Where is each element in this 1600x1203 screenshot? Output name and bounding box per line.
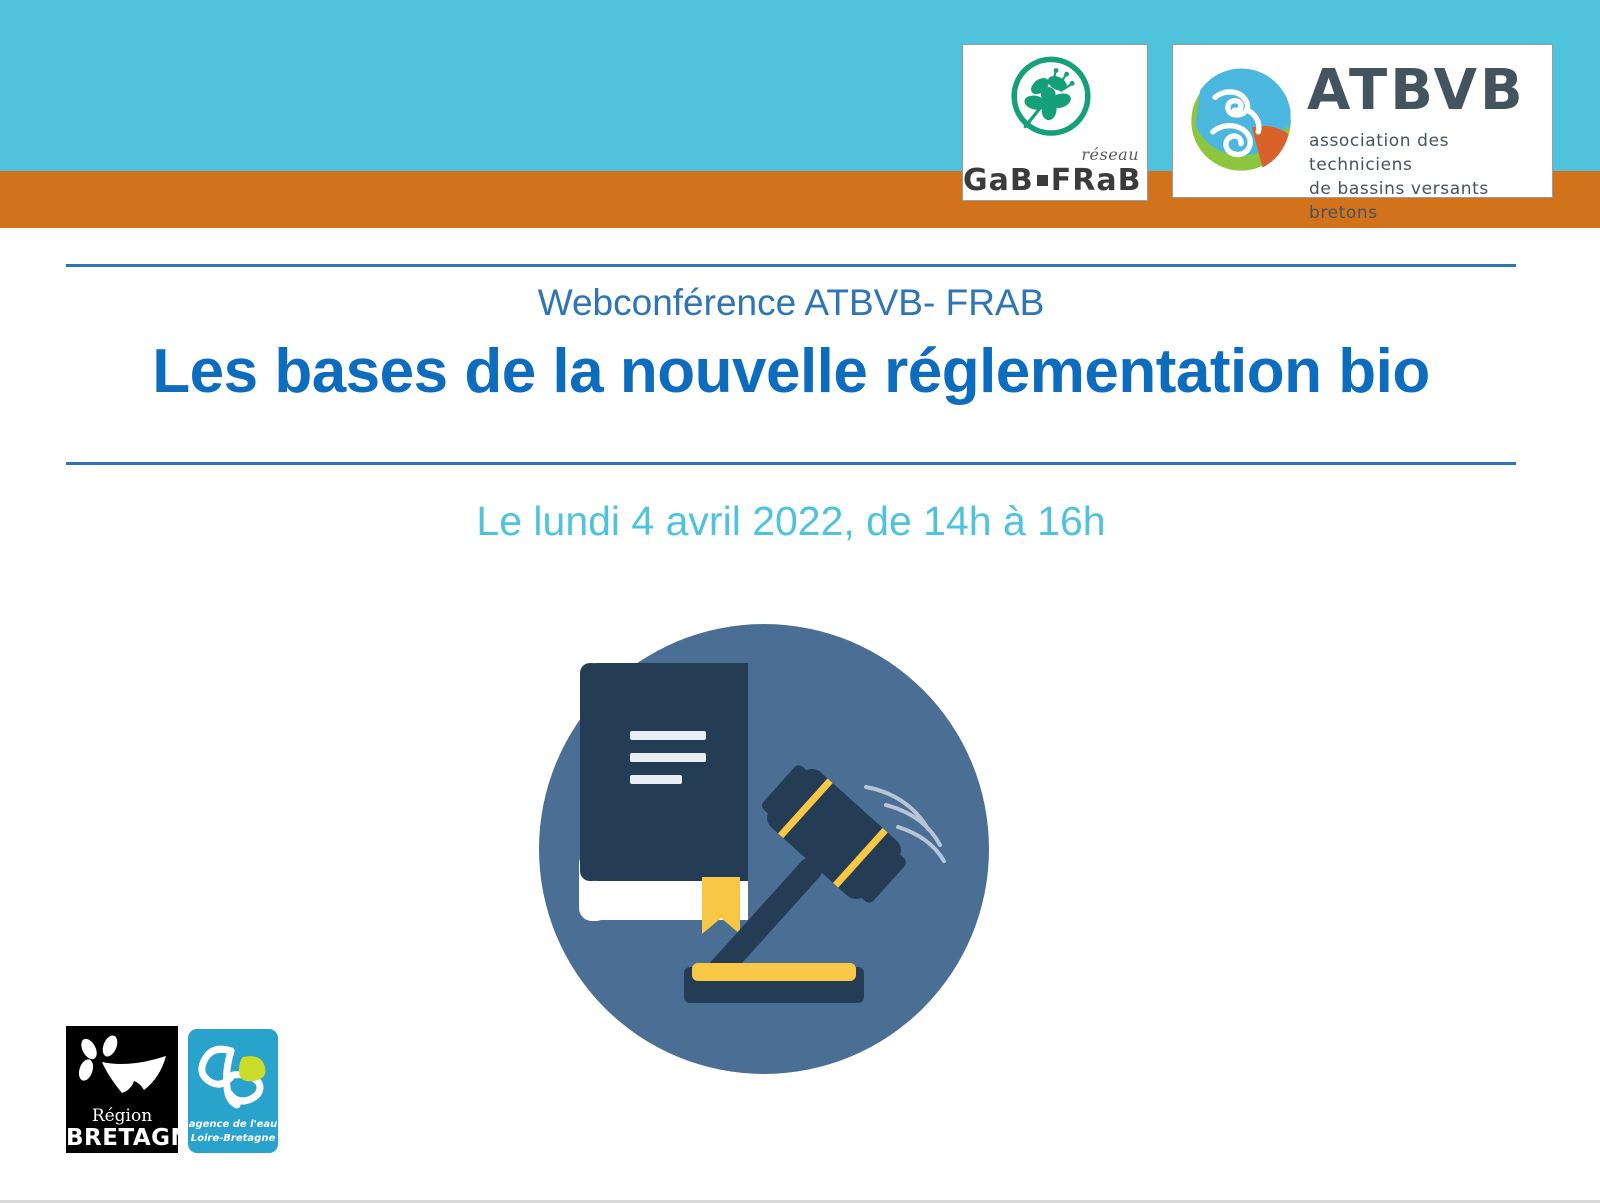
gab-frab-square-separator-icon [1037,175,1048,186]
agence-de-leau-line1: agence de l'eau [188,1118,278,1132]
region-bretagne-line1: Région [66,1106,178,1126]
gab-frab-logo-inner: réseau GaBFRaB [963,45,1147,200]
law-book-icon [579,663,748,934]
law-book-and-gavel-illustration [534,619,994,1079]
atbvb-tagline-line2: de bassins versants bretons [1309,177,1552,225]
gab-frab-script-word: réseau [963,145,1139,164]
title-bottom-rule [66,462,1516,465]
slide-subtitle: Webconférence ATBVB- FRAB [66,282,1516,324]
region-bretagne-logo: Région BRETAGNE [66,1026,178,1153]
agence-de-leau-logo: agence de l'eau Loire-Bretagne [188,1029,278,1153]
atbvb-wordmark: ATBVB [1307,61,1526,121]
atbvb-tagline: association des techniciens de bassins v… [1309,129,1552,225]
region-bretagne-line2: BRETAGNE [66,1125,178,1151]
title-top-rule [66,264,1516,267]
event-datetime: Le lundi 4 avril 2022, de 14h à 16h [66,498,1516,545]
presentation-slide: réseau GaBFRaB ATBVB association des tec… [0,0,1600,1203]
agence-de-leau-line2: Loire-Bretagne [188,1132,278,1146]
atbvb-globe-icon [1187,67,1295,175]
atbvb-logo: ATBVB association des techniciens de bas… [1172,44,1553,198]
gab-frab-wordmark-left: GaB [963,163,1034,198]
gab-frab-wordmark-right: FRaB [1051,163,1142,198]
atbvb-tagline-line1: association des techniciens [1309,129,1552,177]
sound-block-icon [684,963,864,1003]
slide-title: Les bases de la nouvelle réglementation … [46,336,1536,407]
footer-logos: Région BRETAGNE agence de l'eau Loire-Br… [66,1025,286,1155]
agence-de-leau-text: agence de l'eau Loire-Bretagne [188,1118,278,1146]
gab-frab-logo: réseau GaBFRaB [962,44,1148,201]
bretagne-ermine-bird-icon [72,1032,172,1104]
agence-ae-ligature-icon [193,1035,273,1115]
gab-frab-wordmark: GaBFRaB [963,163,1141,198]
gab-frab-flower-circle-icon [1005,53,1097,145]
